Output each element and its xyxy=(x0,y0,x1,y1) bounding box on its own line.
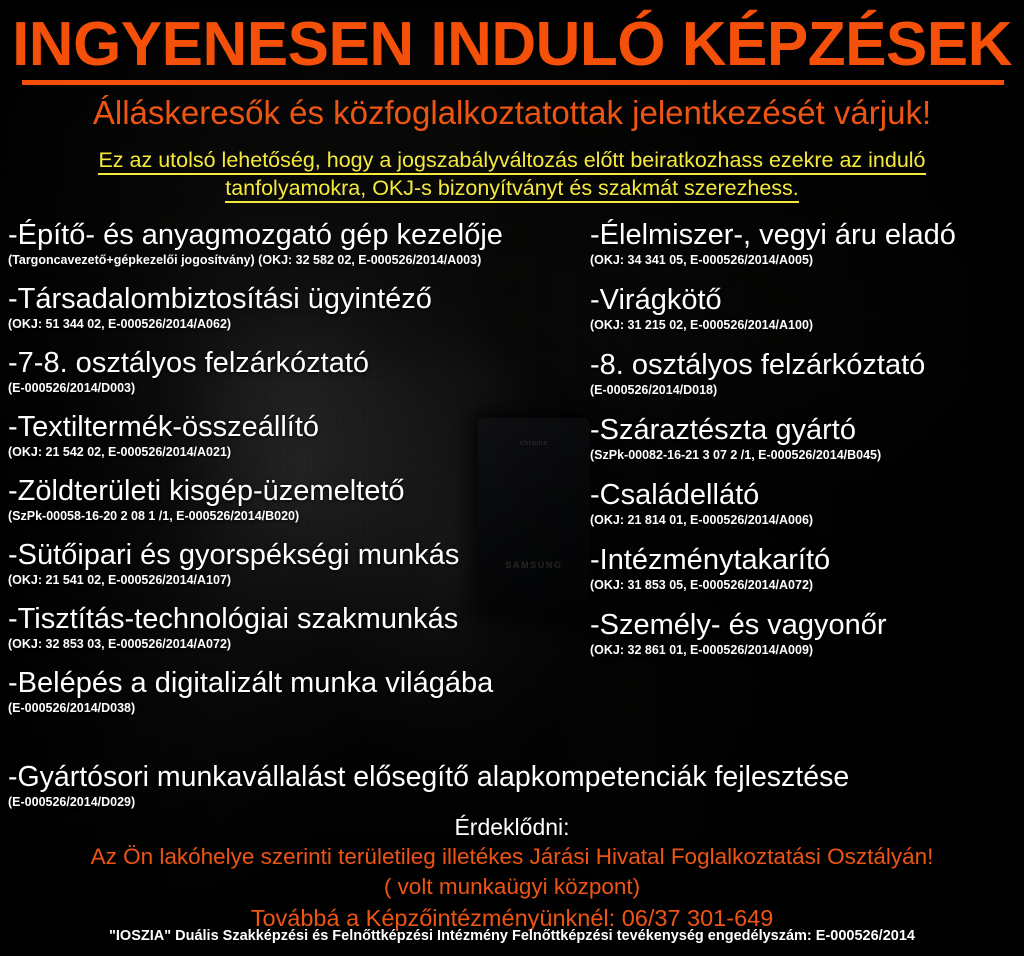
course-item: -Virágkötő (OKJ: 31 215 02, E-000526/201… xyxy=(590,283,1024,333)
poster-root: chrome SAMSUNG INGYENESEN INDULÓ KÉPZÉSE… xyxy=(0,0,1024,956)
course-name: -Zöldterületi kisgép-üzemeltető xyxy=(8,474,593,508)
course-item-wide: -Gyártósori munkavállalást elősegítő ala… xyxy=(8,760,1020,810)
course-item: -Családellátó (OKJ: 21 814 01, E-000526/… xyxy=(590,478,1024,528)
contact-heading: Érdeklődni: xyxy=(0,812,1024,842)
course-name: -Intézménytakarító xyxy=(590,543,1024,577)
course-code: (Targoncavezető+gépkezelői jogosítvány) … xyxy=(8,252,593,268)
poster-content: INGYENESEN INDULÓ KÉPZÉSEK Álláskeresők … xyxy=(0,0,1024,956)
course-code: (E-000526/2014/D003) xyxy=(8,380,593,396)
course-name: -Személy- és vagyonőr xyxy=(590,608,1024,642)
course-item: -Társadalombiztosítási ügyintéző (OKJ: 5… xyxy=(8,282,593,332)
course-item: -Élelmiszer-, vegyi áru eladó (OKJ: 34 3… xyxy=(590,218,1024,268)
course-column-left: -Építő- és anyagmozgató gép kezelője (Ta… xyxy=(8,218,593,730)
course-item: -Textiltermék-összeállító (OKJ: 21 542 0… xyxy=(8,410,593,460)
lead-line-1: Ez az utolsó lehetőség, hogy a jogszabál… xyxy=(98,148,925,175)
course-code: (SzPk-00058-16-20 2 08 1 /1, E-000526/20… xyxy=(8,508,593,524)
course-name: -Családellátó xyxy=(590,478,1024,512)
course-item: -Sütőipari és gyorspékségi munkás (OKJ: … xyxy=(8,538,593,588)
course-item: -Személy- és vagyonőr (OKJ: 32 861 01, E… xyxy=(590,608,1024,658)
course-name: -7-8. osztályos felzárkóztató xyxy=(8,346,593,380)
course-name: -Gyártósori munkavállalást elősegítő ala… xyxy=(8,760,1020,794)
course-code: (OKJ: 32 853 03, E-000526/2014/A072) xyxy=(8,636,593,652)
course-column-right: -Élelmiszer-, vegyi áru eladó (OKJ: 34 3… xyxy=(590,218,1024,673)
page-title: INGYENESEN INDULÓ KÉPZÉSEK xyxy=(0,9,1024,80)
course-item: -Intézménytakarító (OKJ: 31 853 05, E-00… xyxy=(590,543,1024,593)
course-code: (OKJ: 34 341 05, E-000526/2014/A005) xyxy=(590,252,1024,268)
course-name: -Társadalombiztosítási ügyintéző xyxy=(8,282,593,316)
course-name: -Textiltermék-összeállító xyxy=(8,410,593,444)
contact-office-line: Az Ön lakóhelye szerinti területileg ill… xyxy=(0,842,1024,872)
course-code: (OKJ: 32 861 01, E-000526/2014/A009) xyxy=(590,642,1024,658)
course-item: -Zöldterületi kisgép-üzemeltető (SzPk-00… xyxy=(8,474,593,524)
course-code: (OKJ: 31 215 02, E-000526/2014/A100) xyxy=(590,317,1024,333)
course-name: -Száraztészta gyártó xyxy=(590,413,1024,447)
title-divider xyxy=(22,80,1004,85)
page-subtitle: Álláskeresők és közfoglalkoztatottak jel… xyxy=(0,94,1024,132)
course-name: -Virágkötő xyxy=(590,283,1024,317)
course-item: -Száraztészta gyártó (SzPk-00082-16-21 3… xyxy=(590,413,1024,463)
course-name: -Belépés a digitalizált munka világába xyxy=(8,666,593,700)
course-code: (E-000526/2014/D018) xyxy=(590,382,1024,398)
course-item: -7-8. osztályos felzárkóztató (E-000526/… xyxy=(8,346,593,396)
course-item: -Belépés a digitalizált munka világába (… xyxy=(8,666,593,716)
course-code: (E-000526/2014/D029) xyxy=(8,794,1020,810)
course-name: -Tisztítás-technológiai szakmunkás xyxy=(8,602,593,636)
course-name: -Építő- és anyagmozgató gép kezelője xyxy=(8,218,593,252)
course-code: (OKJ: 51 344 02, E-000526/2014/A062) xyxy=(8,316,593,332)
lead-paragraph: Ez az utolsó lehetőség, hogy a jogszabál… xyxy=(12,146,1012,202)
course-code: (OKJ: 21 541 02, E-000526/2014/A107) xyxy=(8,572,593,588)
course-code: (OKJ: 21 814 01, E-000526/2014/A006) xyxy=(590,512,1024,528)
course-name: -8. osztályos felzárkóztató xyxy=(590,348,1024,382)
contact-footer: Érdeklődni: Az Ön lakóhelye szerinti ter… xyxy=(0,812,1024,935)
lead-line-2: tanfolyamokra, OKJ-s bizonyítványt és sz… xyxy=(225,176,799,203)
course-code: (OKJ: 21 542 02, E-000526/2014/A021) xyxy=(8,444,593,460)
course-name: -Élelmiszer-, vegyi áru eladó xyxy=(590,218,1024,252)
course-code: (OKJ: 31 853 05, E-000526/2014/A072) xyxy=(590,577,1024,593)
course-code: (SzPk-00082-16-21 3 07 2 /1, E-000526/20… xyxy=(590,447,1024,463)
course-name: -Sütőipari és gyorspékségi munkás xyxy=(8,538,593,572)
legal-notice: "IOSZIA" Duális Szakképzési és Felnőttké… xyxy=(0,928,1024,944)
course-item: -Tisztítás-technológiai szakmunkás (OKJ:… xyxy=(8,602,593,652)
course-item: -8. osztályos felzárkóztató (E-000526/20… xyxy=(590,348,1024,398)
course-code: (E-000526/2014/D038) xyxy=(8,700,593,716)
course-item: -Építő- és anyagmozgató gép kezelője (Ta… xyxy=(8,218,593,268)
contact-office-note: ( volt munkaügyi központ) xyxy=(0,872,1024,902)
